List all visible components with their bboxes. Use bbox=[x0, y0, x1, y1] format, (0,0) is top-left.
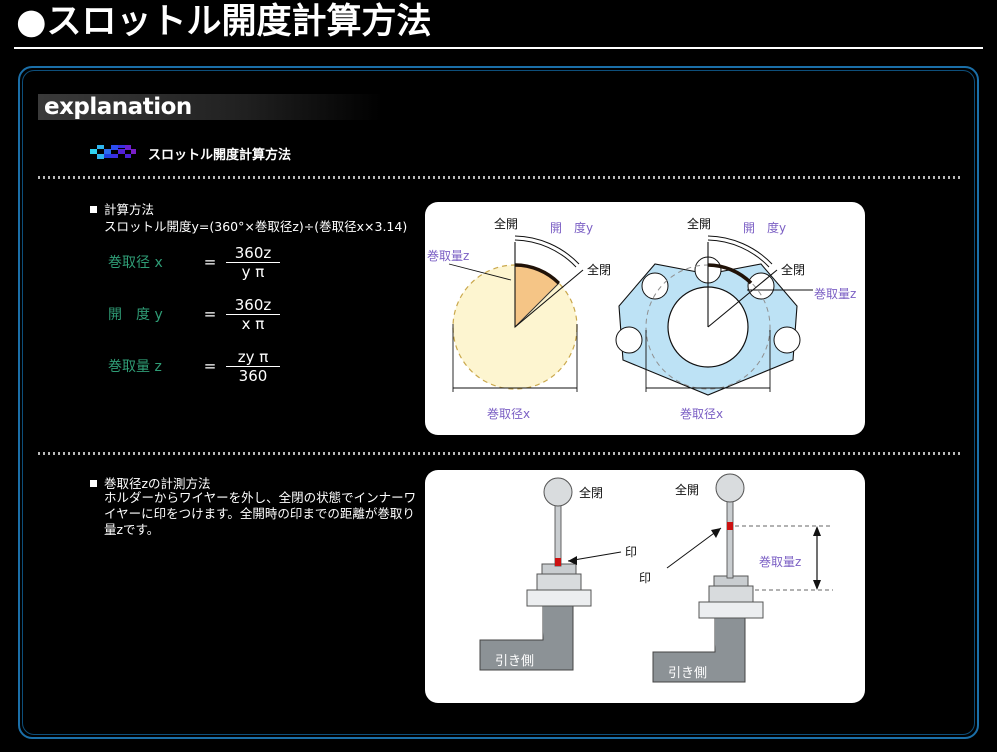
divider-dotted-top bbox=[38, 176, 963, 179]
mark-arrowhead bbox=[711, 528, 721, 538]
label-full-close-right: 全閉 bbox=[781, 262, 805, 277]
label-wind-amount-z: 巻取量z bbox=[759, 555, 801, 569]
angle-arc-outer bbox=[708, 236, 772, 264]
wire-mark bbox=[727, 522, 733, 530]
measure-method-heading-label: 巻取径zの計測方法 bbox=[104, 476, 211, 491]
diagram-panel-top: 全開 開 度y 全閉 巻取量z 巻取径x bbox=[425, 202, 865, 435]
formula-label: 巻取径 x bbox=[108, 252, 194, 272]
diagram-panel-bottom: 全閉 印 引き側 bbox=[425, 470, 865, 703]
formula-list: 巻取径 x = 360z y π 開 度 y = 360z x π 巻取量 z … bbox=[108, 236, 338, 392]
label-pull-side-right: 引き側 bbox=[668, 666, 707, 681]
label-pull-side-left: 引き側 bbox=[495, 654, 534, 669]
label-mark-left: 印 bbox=[625, 545, 637, 559]
label-full-open-right: 全開 bbox=[687, 216, 711, 231]
formula-fraction: 360z x π bbox=[226, 296, 280, 333]
hex-pulley-figure: 全開 開 度y 全閉 巻取量z 巻取径x bbox=[616, 216, 856, 421]
title-bar: ●スロットル開度計算方法 bbox=[0, 0, 997, 49]
formula-numerator: zy π bbox=[226, 348, 280, 366]
formula-numerator: 360z bbox=[226, 244, 280, 262]
bullet-square-icon bbox=[90, 206, 97, 213]
formula-fraction: zy π 360 bbox=[226, 348, 280, 385]
formula-denominator: 360 bbox=[226, 366, 280, 385]
wire-measurement-diagram: 全閉 印 引き側 bbox=[425, 470, 865, 703]
wire-ball-end bbox=[716, 474, 744, 502]
formula-equals: = bbox=[194, 253, 226, 271]
calc-method-formula-text: スロットル開度y=(360°×巻取径z)÷(巻取径x×3.14) bbox=[104, 216, 407, 235]
angle-arc-outer bbox=[515, 236, 579, 264]
wire-mark bbox=[555, 558, 561, 566]
adjuster-nut-lower bbox=[699, 602, 763, 618]
label-wind-amount-right: 巻取量z bbox=[814, 287, 856, 301]
formula-fraction: 360z y π bbox=[226, 244, 280, 281]
section-heading-label: スロットル開度計算方法 bbox=[148, 144, 291, 163]
formula-equals: = bbox=[194, 305, 226, 323]
formula-label: 巻取量 z bbox=[108, 356, 194, 376]
round-pulley-figure: 全開 開 度y 全閉 巻取量z 巻取径x bbox=[427, 216, 611, 421]
formula-denominator: x π bbox=[226, 314, 280, 333]
explanation-label: explanation bbox=[44, 92, 192, 122]
formula-row: 巻取量 z = zy π 360 bbox=[108, 340, 338, 392]
label-diameter-left: 巻取径x bbox=[487, 407, 530, 421]
label-wind-amount-left: 巻取量z bbox=[427, 249, 469, 263]
calc-method-heading-label: 計算方法 bbox=[104, 202, 154, 217]
title-divider bbox=[14, 47, 983, 49]
adjuster-nut-upper bbox=[537, 574, 581, 590]
label-full-close-left: 全閉 bbox=[587, 262, 611, 277]
label-angle-right: 開 度y bbox=[743, 220, 786, 235]
wire-assembly-closed: 全閉 印 引き側 bbox=[480, 478, 637, 670]
adjuster-nut-lower bbox=[527, 590, 591, 606]
dim-arrow-down bbox=[813, 580, 821, 590]
formula-label: 開 度 y bbox=[108, 304, 194, 324]
label-full-open-left: 全開 bbox=[494, 216, 518, 231]
inner-wire bbox=[727, 492, 733, 578]
formula-row: 巻取径 x = 360z y π bbox=[108, 236, 338, 288]
formula-numerator: 360z bbox=[226, 296, 280, 314]
wire-ball-end bbox=[544, 478, 572, 506]
checkered-flag-icon bbox=[90, 145, 136, 162]
formula-denominator: y π bbox=[226, 262, 280, 281]
mark-leader bbox=[667, 528, 721, 568]
label-diameter-right: 巻取径x bbox=[680, 407, 723, 421]
dim-arrow-up bbox=[813, 526, 821, 536]
measure-method-body: ホルダーからワイヤーを外し、全閉の状態でインナーワイヤーに印をつけます。全開時の… bbox=[104, 490, 424, 538]
content-frame: explanation スロットル開度 bbox=[18, 66, 979, 739]
adjuster-nut-upper bbox=[709, 586, 753, 602]
label-angle-left: 開 度y bbox=[550, 220, 593, 235]
section-heading: スロットル開度計算方法 bbox=[90, 144, 291, 163]
label-mark-right: 印 bbox=[639, 571, 651, 585]
label-state-closed: 全閉 bbox=[579, 485, 603, 500]
slide-root: ●スロットル開度計算方法 explanation bbox=[0, 0, 997, 752]
wire-assembly-open: 全開 印 巻取量z 引き側 bbox=[639, 474, 833, 682]
formula-equals: = bbox=[194, 357, 226, 375]
bullet-square-icon bbox=[90, 480, 97, 487]
notch bbox=[774, 327, 800, 353]
throttle-pulley-diagram: 全開 開 度y 全閉 巻取量z 巻取径x bbox=[425, 202, 865, 435]
notch bbox=[616, 327, 642, 353]
label-state-open: 全開 bbox=[675, 482, 699, 497]
formula-row: 開 度 y = 360z x π bbox=[108, 288, 338, 340]
divider-dotted-bottom bbox=[38, 452, 963, 455]
page-title: ●スロットル開度計算方法 bbox=[16, 0, 432, 45]
